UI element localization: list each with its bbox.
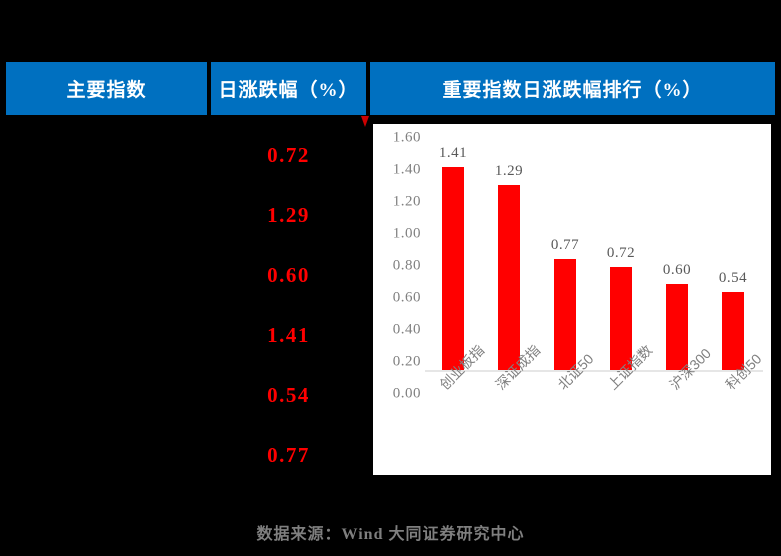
y-axis-tick: 1.60	[377, 130, 421, 147]
table-header-row: 主要指数 日涨跌幅（%） 重要指数日涨跌幅排行（%）	[0, 62, 781, 115]
cursor-marker-icon	[361, 116, 369, 127]
bar-value-label: 0.54	[705, 270, 761, 287]
table-row: 0.60	[211, 260, 366, 290]
y-axis-tick: 0.40	[377, 322, 421, 339]
table-row: 0.54	[211, 380, 366, 410]
table-header-daily-change-label: 日涨跌幅（%）	[218, 75, 358, 102]
table-row: 1.41	[211, 320, 366, 350]
table-header-main-index-label: 主要指数	[66, 75, 146, 102]
x-axis-category-labels: 创业板指 深证成指 北证50 上证指数 沪深300 科创50	[425, 374, 763, 469]
table-row: 0.72	[211, 140, 366, 170]
bar-value-label: 1.41	[425, 145, 481, 162]
bars-layer: 1.41 1.29 0.77 0.72 0.60 0.54	[425, 140, 763, 370]
y-axis-tick: 1.00	[377, 226, 421, 243]
bar-group: 0.60	[649, 140, 705, 370]
bar-group: 0.54	[705, 140, 761, 370]
table-header-main-index: 主要指数	[6, 62, 207, 115]
table-header-chart-title-label: 重要指数日涨跌幅排行（%）	[442, 75, 702, 102]
bar	[554, 259, 576, 370]
y-axis-tick: 0.00	[377, 386, 421, 403]
y-axis-tick: 1.20	[377, 194, 421, 211]
bar-value-label: 0.72	[593, 245, 649, 262]
table-row: 0.77	[211, 440, 366, 470]
bar-group: 0.72	[593, 140, 649, 370]
y-axis-tick: 0.20	[377, 354, 421, 371]
bar-value-label: 0.77	[537, 237, 593, 254]
bar-group: 1.41	[425, 140, 481, 370]
source-note: 数据来源：Wind 大同证券研究中心	[0, 520, 781, 544]
bar-group: 0.77	[537, 140, 593, 370]
index-change-bar-chart: 0.00 0.20 0.40 0.60 0.80 1.00 1.20 1.40 …	[373, 124, 771, 475]
y-axis-tick: 1.40	[377, 162, 421, 179]
chart-plot-area: 0.00 0.20 0.40 0.60 0.80 1.00 1.20 1.40 …	[373, 124, 771, 475]
bar	[442, 167, 464, 370]
bar-value-label: 0.60	[649, 262, 705, 279]
bar-group: 1.29	[481, 140, 537, 370]
index-name-column	[6, 118, 207, 480]
bar-value-label: 1.29	[481, 163, 537, 180]
bar	[666, 284, 688, 370]
y-axis: 0.00 0.20 0.40 0.60 0.80 1.00 1.20 1.40 …	[377, 140, 421, 394]
y-axis-tick: 0.60	[377, 290, 421, 307]
daily-change-column: 0.72 1.29 0.60 1.41 0.54 0.77	[211, 118, 366, 480]
table-header-chart-title: 重要指数日涨跌幅排行（%）	[370, 62, 775, 115]
bar	[498, 185, 520, 370]
table-header-daily-change: 日涨跌幅（%）	[211, 62, 366, 115]
table-row: 1.29	[211, 200, 366, 230]
x-axis-baseline	[425, 370, 763, 372]
y-axis-tick: 0.80	[377, 258, 421, 275]
